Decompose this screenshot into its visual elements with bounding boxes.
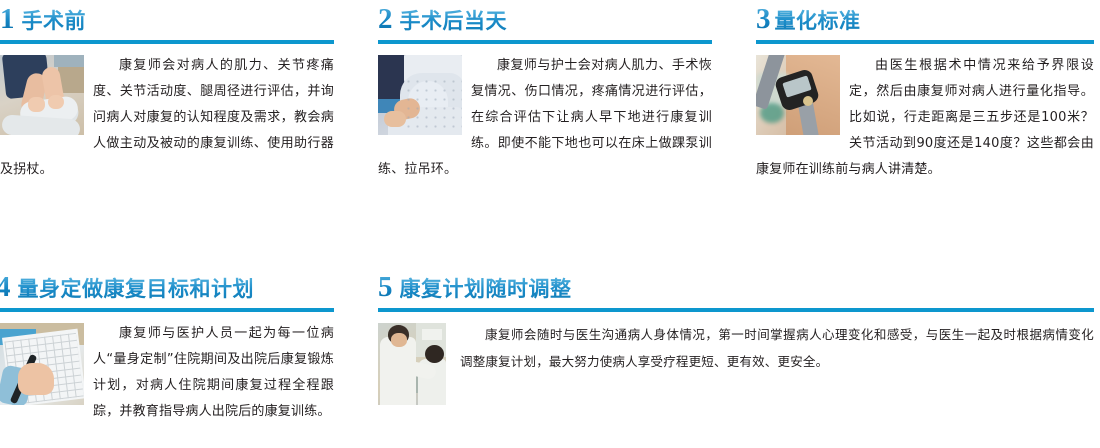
panel-3-body: 由医生根据术中情况来给予界限设定，然后由康复师对病人进行量化指导。比如说，行走距…	[756, 53, 1094, 183]
panel-3-title: 量化标准	[775, 6, 861, 36]
panel-2-header: 2手术后当天	[378, 4, 712, 38]
panel-5-body: 康复师会随时与医生沟通病人身体情况，第一时间掌握病人心理变化和感受，与医生一起及…	[378, 321, 1094, 375]
panel-2-title: 手术后当天	[400, 6, 508, 36]
panel-4-title: 量身定做康复目标和计划	[18, 274, 255, 304]
panel-3-header: 3量化标准	[756, 4, 1094, 38]
panel-4-header: 4量身定做康复目标和计划	[0, 272, 334, 306]
panel-1-title: 手术前	[22, 6, 87, 36]
panel-1-number: 1	[0, 4, 15, 34]
panel-4: 4量身定做康复目标和计划 康复师与医护人员一起为每一位病人“量身定制”住院期间及…	[0, 272, 334, 425]
panel-2-divider	[378, 40, 712, 44]
panel-2: 2手术后当天 康复师与护士会对病人肌力、手术恢复情况、伤口情况，疼痛情况进行评估…	[378, 4, 712, 183]
panel-4-divider	[0, 308, 334, 312]
panel-3: 3量化标准 由医生根据术中情况来给予界限设定，然后由康复师对病人进行量化指导。比…	[756, 4, 1094, 183]
panel-3-number: 3	[756, 4, 771, 34]
doctors-consulting-patient-photo	[378, 323, 446, 405]
panel-5-number: 5	[378, 272, 393, 302]
nurse-wrapping-leg-photo	[0, 55, 84, 135]
panel-1-header: 1手术前	[0, 4, 334, 38]
panel-1-body: 康复师会对病人的肌力、关节疼痛度、关节活动度、腿周径进行评估，并询问病人对康复的…	[0, 53, 334, 183]
panel-5-title: 康复计划随时调整	[400, 274, 572, 304]
panel-5-divider	[378, 308, 1094, 312]
digital-goniometer-photo	[756, 55, 840, 135]
panel-5: 5康复计划随时调整 康复师会随时与医生沟通病人身体情况，第一时间掌握病人心理变化…	[378, 272, 1094, 405]
panel-1: 1手术前 康复师会对病人的肌力、关节疼痛度、关节活动度、腿周径进行评估，并询问病…	[0, 4, 334, 183]
patient-in-hospital-bed-photo	[378, 55, 462, 135]
panel-5-text: 康复师会随时与医生沟通病人身体情况，第一时间掌握病人心理变化和感受，与医生一起及…	[378, 321, 1094, 375]
panel-2-body: 康复师与护士会对病人肌力、手术恢复情况、伤口情况，疼痛情况进行评估，在综合评估下…	[378, 53, 712, 183]
panel-4-number: 4	[0, 272, 11, 302]
panel-2-number: 2	[378, 4, 393, 34]
panel-4-body: 康复师与医护人员一起为每一位病人“量身定制”住院期间及出院后康复锻炼计划，对病人…	[0, 321, 334, 425]
panel-1-divider	[0, 40, 334, 44]
infographic-board: 1手术前 康复师会对病人的肌力、关节疼痛度、关节活动度、腿周径进行评估，并询问病…	[0, 0, 1100, 448]
hand-writing-on-chart-photo	[0, 323, 84, 405]
panel-5-header: 5康复计划随时调整	[378, 272, 1094, 306]
panel-3-divider	[756, 40, 1094, 44]
